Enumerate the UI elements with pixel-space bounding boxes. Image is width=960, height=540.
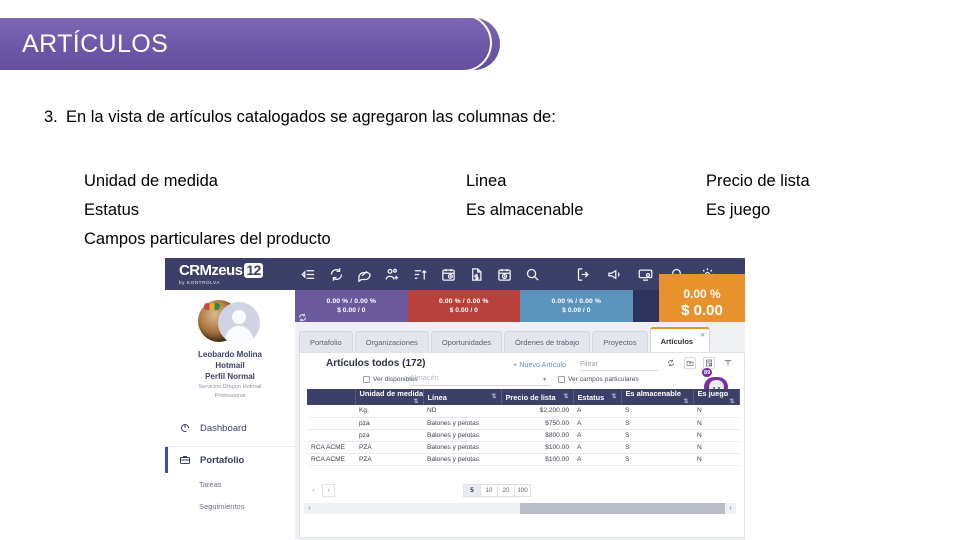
sort-icon[interactable]: ⇅: [491, 393, 496, 400]
search-icon[interactable]: [525, 267, 540, 282]
columns-added-list: Unidad de medida Linea Precio de lista E…: [84, 172, 944, 259]
new-article-button[interactable]: + Nuevo Artículo: [513, 360, 566, 369]
column-name: Unidad de medida: [84, 172, 466, 191]
list-menu-icon[interactable]: [301, 267, 316, 282]
columns-row: Estatus Es almacenable Es juego: [84, 201, 944, 230]
cell-linea: ND: [423, 405, 501, 417]
cell-linea: Balones y pelotas: [423, 417, 501, 429]
columns-row: Campos particulares del producto: [84, 230, 944, 259]
page-size-100[interactable]: 100: [514, 484, 531, 497]
table-row[interactable]: RCA ACME PZA Balones y pelotas $100.00 A…: [307, 453, 739, 465]
table-row[interactable]: Kg. ND $2,200.00 A S N: [307, 405, 739, 417]
intro-text: En la vista de artículos catalogados se …: [66, 108, 556, 127]
column-header-es-juego[interactable]: Es juego⇅: [693, 389, 739, 405]
sidebar-item-label: Portafolio: [200, 455, 244, 466]
kpi-line1: 0.00 % / 0.00 %: [520, 298, 633, 305]
cell-juego: N: [693, 417, 739, 429]
column-name: Estatus: [84, 201, 466, 220]
card-header: Artículos todos (172) + Nuevo Artículo F…: [300, 353, 745, 375]
refresh-icon[interactable]: [665, 357, 677, 369]
logo-text: CRMzeus: [179, 263, 242, 278]
tab-oportunidades[interactable]: Oportunidades: [431, 331, 502, 353]
kpi-line2: $ 0.00 / 0: [520, 307, 633, 314]
kpi-line2: $ 0.00 / 0: [295, 307, 408, 314]
columns-row: Unidad de medida Linea Precio de lista: [84, 172, 944, 201]
cell-marca: [307, 429, 355, 441]
sort-icon[interactable]: ⇅: [729, 398, 734, 405]
column-header-es-almacenable[interactable]: Es almacenable⇅: [621, 389, 693, 405]
page-size-10[interactable]: 10: [480, 484, 497, 497]
calendar-clock-icon[interactable]: [441, 267, 456, 282]
cell-linea: Balones y pelotas: [423, 441, 501, 453]
intro-number: 3.: [44, 108, 66, 127]
export-folder-icon[interactable]: [684, 357, 696, 369]
cell-almacenable: S: [621, 441, 693, 453]
articulos-card: Artículos todos (172) + Nuevo Artículo F…: [299, 352, 745, 538]
cell-precio: $750.00: [501, 417, 573, 429]
almacen-select[interactable]: Almacén ▾: [410, 373, 550, 386]
cell-juego: N: [693, 405, 739, 417]
cell-estatus: A: [573, 453, 621, 465]
kpi-tile-orange[interactable]: 0.00 % $ 0.00: [659, 274, 745, 322]
kpi-strip: 0.00 % / 0.00 % $ 0.00 / 0 0.00 % / 0.00…: [295, 290, 745, 322]
tab-bar: Portafolio Organizaciones Oportunidades …: [299, 327, 745, 353]
chevron-down-icon: ▾: [543, 376, 546, 383]
sort-icon[interactable]: ⇅: [611, 393, 616, 400]
logo-version-badge: 12: [244, 263, 262, 278]
kpi-line1: 0.00 % / 0.00 %: [295, 298, 408, 305]
horizontal-scrollbar[interactable]: ‹ ›: [304, 503, 736, 514]
crm-navbar: CRMzeus 12 by KONTROLVA: [165, 258, 745, 290]
pagination: ‹ › 5 10 20 100: [307, 484, 739, 500]
table-header-row: Unidad de medida⇅ Línea⇅ Precio de lista…: [307, 389, 739, 405]
sort-icon[interactable]: ⇅: [413, 398, 418, 405]
column-header-estatus[interactable]: Estatus⇅: [573, 389, 621, 405]
page-prev-button[interactable]: ‹: [307, 484, 320, 497]
page-title: ARTÍCULOS: [22, 30, 168, 59]
sidebar-item-seguimientos[interactable]: Seguimientos: [165, 495, 295, 517]
column-name: Campos particulares del producto: [84, 230, 466, 249]
cell-juego: N: [693, 429, 739, 441]
column-header-precio-de-lista[interactable]: Precio de lista⇅: [501, 389, 573, 405]
almacen-placeholder: Almacén: [410, 373, 439, 382]
chat-unread-badge: 89: [701, 367, 713, 378]
sort-icon[interactable]: ⇅: [683, 398, 688, 405]
table-row[interactable]: pza Balones y pelotas $750.00 A S N: [307, 417, 739, 429]
checkbox-ver-campos-particulares[interactable]: Ver campos particulares: [558, 376, 639, 383]
calendar-time-icon[interactable]: [497, 267, 512, 282]
checkbox-box: [363, 376, 370, 383]
chevron-down-icon[interactable]: [741, 357, 745, 369]
scroll-right-button[interactable]: ›: [725, 505, 736, 512]
kpi-tile-blue[interactable]: 0.00 % / 0.00 % $ 0.00 / 0: [520, 290, 633, 322]
cell-linea: Balones y pelotas: [423, 429, 501, 441]
sort-list-icon[interactable]: [413, 267, 428, 282]
tab-proyectos[interactable]: Proyectos: [592, 331, 647, 353]
column-header-marca[interactable]: [307, 389, 355, 405]
cell-unidad: Kg.: [355, 405, 423, 417]
cell-marca: [307, 405, 355, 417]
slide-root: ARTÍCULOS 3. En la vista de artículos ca…: [0, 0, 960, 540]
cell-estatus: A: [573, 417, 621, 429]
cell-juego: N: [693, 441, 739, 453]
tab-portafolio[interactable]: Portafolio: [299, 331, 353, 353]
page-next-button[interactable]: ›: [322, 484, 335, 497]
close-icon[interactable]: ✕: [700, 332, 705, 339]
logo-subtitle: by KONTROLVA: [179, 281, 295, 286]
column-name: Precio de lista: [706, 172, 926, 191]
page-size-group: 5 10 20 100: [463, 484, 531, 497]
sort-icon[interactable]: ⇅: [563, 393, 568, 400]
cell-almacenable: S: [621, 429, 693, 441]
column-name: Es almacenable: [466, 201, 706, 220]
kpi-line2: $ 0.00 / 0: [408, 307, 521, 314]
user-plan: Professional: [165, 393, 295, 399]
cell-marca: [307, 417, 355, 429]
chat-icon[interactable]: [357, 267, 372, 282]
cell-marca: RCA ACME: [307, 453, 355, 465]
sidebar-user-block: Leobardo Molina Hotmail Perfil Normal Se…: [165, 348, 295, 399]
add-users-icon[interactable]: [385, 267, 400, 282]
body-copy: 3. En la vista de artículos catalogados …: [0, 108, 960, 127]
cell-estatus: A: [573, 405, 621, 417]
user-name: Leobardo Molina: [165, 350, 295, 359]
cell-precio: $2,200.00: [501, 405, 573, 417]
logout-icon[interactable]: [576, 267, 591, 282]
avatar-silhouette-icon: [218, 302, 260, 344]
column-name: Es juego: [706, 201, 926, 220]
tab-ordenes-de-trabajo[interactable]: Órdenes de trabajo: [504, 331, 590, 353]
cell-estatus: A: [573, 441, 621, 453]
cell-unidad: PZA: [355, 453, 423, 465]
cell-almacenable: S: [621, 417, 693, 429]
cell-almacenable: S: [621, 405, 693, 417]
tab-organizaciones[interactable]: Organizaciones: [355, 331, 429, 353]
cell-precio: $100.00: [501, 453, 573, 465]
kpi-line2: $ 0.00: [659, 302, 745, 319]
crm-sidebar: Leobardo Molina Hotmail Perfil Normal Se…: [165, 290, 295, 540]
cell-precio: $800.00: [501, 429, 573, 441]
screen-share-icon[interactable]: [638, 267, 653, 282]
page-size-5[interactable]: 5: [463, 484, 480, 497]
user-account: Hotmail: [165, 361, 295, 370]
table-row[interactable]: pza Balones y pelotas $800.00 A S N: [307, 429, 739, 441]
scrollbar-track[interactable]: [315, 503, 725, 514]
table-row[interactable]: RCA ACME PZA Balones y pelotas $100.00 A…: [307, 441, 739, 453]
page-size-20[interactable]: 20: [497, 484, 514, 497]
crm-main-panel: Portafolio Organizaciones Oportunidades …: [295, 322, 745, 540]
sidebar-item-tareas[interactable]: Tareas: [165, 473, 295, 495]
cell-marca: RCA ACME: [307, 441, 355, 453]
intro-paragraph: 3. En la vista de artículos catalogados …: [44, 108, 960, 127]
cell-juego: N: [693, 453, 739, 465]
sidebar-item-portafolio[interactable]: Portafolio: [165, 447, 295, 473]
checkbox-box: [558, 376, 565, 383]
cell-unidad: pza: [355, 417, 423, 429]
kpi-tile-purple[interactable]: 0.00 % / 0.00 % $ 0.00 / 0: [295, 290, 408, 322]
column-header-unidad-de-medida[interactable]: Unidad de medida⇅: [355, 389, 423, 405]
crm-refresh-icon[interactable]: [329, 267, 344, 282]
cell-linea: Balones y pelotas: [423, 453, 501, 465]
kpi-refresh-icon[interactable]: [298, 309, 307, 318]
navbar-left-icons: [301, 267, 540, 282]
cell-unidad: pza: [355, 429, 423, 441]
scroll-left-button[interactable]: ‹: [304, 505, 315, 512]
sidebar-item-label: Dashboard: [200, 423, 246, 434]
cell-almacenable: S: [621, 453, 693, 465]
cell-estatus: A: [573, 429, 621, 441]
sidebar-portafolio-block: Portafolio Tareas Seguimientos: [165, 446, 295, 517]
megaphone-icon[interactable]: [607, 267, 622, 282]
user-service: Servicios Dragon Hotmail: [165, 384, 295, 390]
document-dollar-icon[interactable]: [469, 267, 484, 282]
cell-precio: $100.00: [501, 441, 573, 453]
column-name: Linea: [466, 172, 706, 191]
kpi-line1: 0.00 % / 0.00 %: [408, 298, 521, 305]
tab-label: Artículos: [661, 337, 694, 346]
filters-row: Ver disponibles Almacén ▾ Ver campos par…: [300, 373, 745, 388]
kpi-tile-red[interactable]: 0.00 % / 0.00 % $ 0.00 / 0: [408, 290, 521, 322]
crm-screenshot: CRMzeus 12 by KONTROLVA: [165, 258, 745, 540]
avatar: [198, 300, 262, 344]
kpi-line1: 0.00 %: [659, 287, 745, 301]
cell-unidad: PZA: [355, 441, 423, 453]
sidebar-item-dashboard[interactable]: Dashboard: [165, 415, 295, 441]
card-title: Artículos todos (172): [326, 358, 425, 369]
briefcase-icon: [179, 454, 191, 466]
articulos-table: Unidad de medida⇅ Línea⇅ Precio de lista…: [307, 389, 739, 466]
scrollbar-thumb[interactable]: [520, 503, 725, 514]
sidebar-item-dashboard-wrap: Dashboard: [165, 415, 295, 441]
dashboard-gauge-icon: [179, 422, 191, 434]
filter-input[interactable]: Filtrar: [580, 358, 658, 371]
tab-articulos[interactable]: Artículos ✕: [650, 327, 711, 353]
column-header-linea[interactable]: Línea⇅: [423, 389, 501, 405]
crm-logo: CRMzeus 12 by KONTROLVA: [165, 263, 295, 286]
user-profile: Perfil Normal: [165, 372, 295, 381]
checkbox-label: Ver campos particulares: [568, 376, 639, 383]
